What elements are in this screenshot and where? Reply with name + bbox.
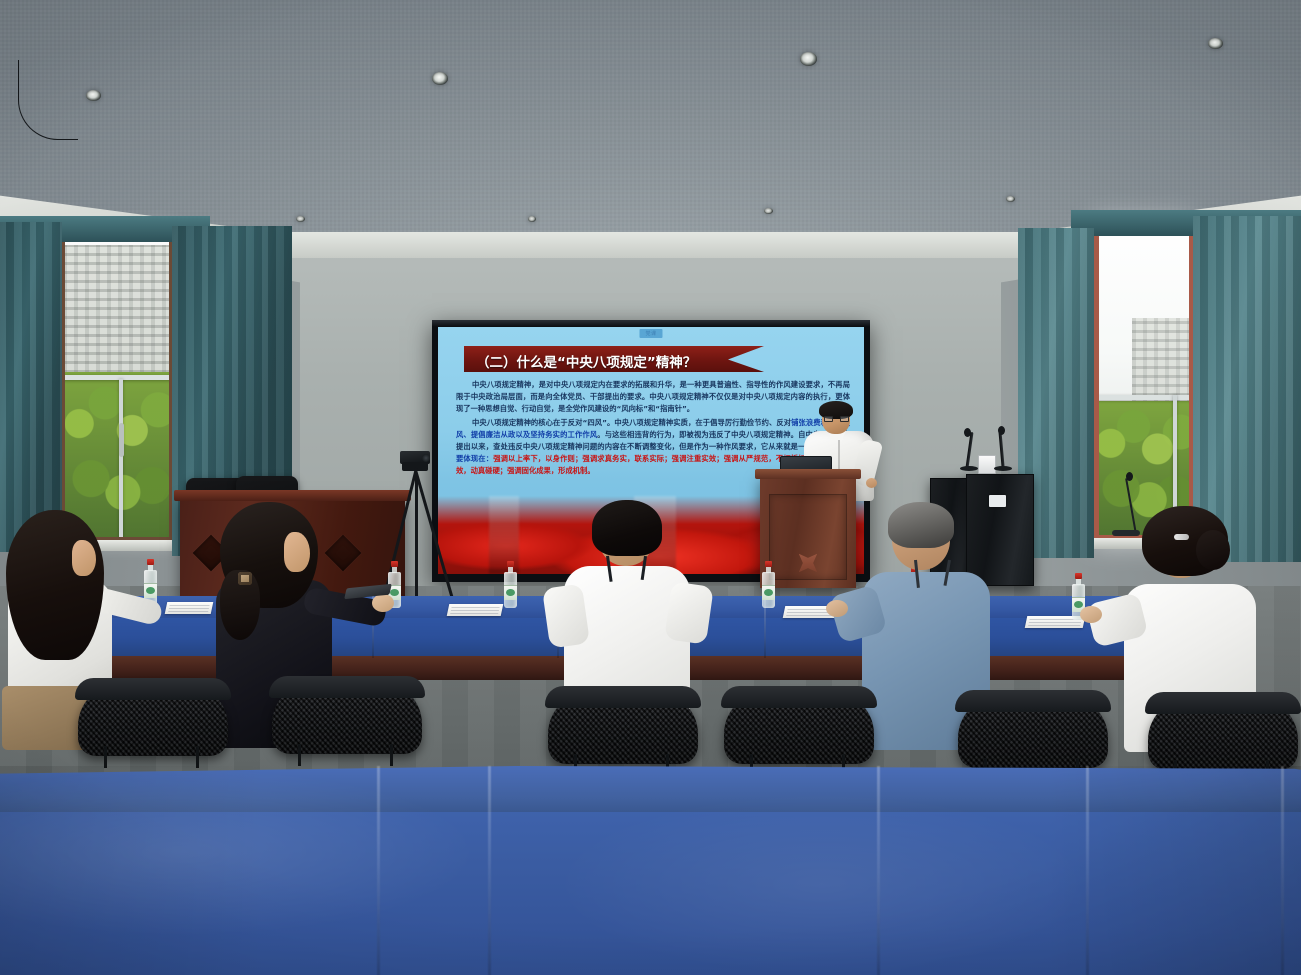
slide-title: （二）什么是“中央八项规定”精神？ [476, 351, 766, 371]
apartment-buildings [63, 245, 172, 391]
attendee-face [284, 532, 310, 572]
microphone-base-icon [994, 466, 1012, 471]
attendee-hand [826, 600, 848, 617]
sill-microphone-capsule-icon [1126, 472, 1133, 481]
mesh-office-chair[interactable] [724, 684, 874, 776]
bottle-cap [391, 561, 398, 567]
bottle-cap [147, 559, 154, 565]
mic-control-panel[interactable] [978, 455, 996, 474]
presenter-hand [866, 478, 877, 488]
mesh-office-chair[interactable] [78, 676, 228, 768]
window-mullion [58, 375, 176, 380]
attendee-hair-bun [1196, 530, 1230, 570]
microphone-capsule-icon [998, 426, 1005, 435]
microphone-capsule-icon [964, 428, 971, 437]
document-paper[interactable] [447, 604, 504, 616]
podium-top-surface [755, 469, 861, 479]
chair-top-rim [545, 686, 701, 708]
chair-top-rim [269, 676, 425, 698]
slide-paragraph-1: 中央八项规定精神，是对中央八项规定内在要求的拓展和升华，是一种更具普遍性、指导性… [456, 379, 850, 416]
window-mullion [1092, 395, 1196, 400]
downlight-icon [528, 216, 536, 222]
water-bottle[interactable] [762, 562, 775, 608]
camera-lens-icon [422, 454, 430, 462]
downlight-icon [800, 52, 817, 66]
window-handle-icon[interactable] [119, 423, 124, 457]
right-window [1092, 222, 1196, 542]
mesh-office-chair[interactable] [548, 684, 698, 776]
hair-clip-icon [238, 572, 252, 585]
downlight-icon [764, 208, 773, 214]
screen-bezel [432, 320, 870, 327]
attendee-hair [6, 510, 104, 660]
attendee-face [72, 540, 96, 576]
attendee-arm [542, 584, 590, 649]
attendee-hair [888, 502, 954, 548]
left-window [58, 226, 176, 544]
attendee-arm [664, 581, 714, 644]
microphone-base-icon [960, 466, 978, 471]
downlight-icon [296, 216, 305, 222]
tripod-leg [415, 474, 418, 602]
bottle-cap [507, 561, 514, 567]
downlight-icon [1208, 38, 1223, 49]
chair-top-rim [955, 690, 1111, 712]
downlight-icon [1006, 196, 1015, 202]
attendee-hand [1080, 606, 1102, 623]
chair-top-rim [1145, 692, 1301, 714]
downlight-icon [432, 72, 448, 85]
ceiling [0, 0, 1301, 232]
conference-room-photo: 党课 （二）什么是“中央八项规定”精神？ 中央八项规定精神，是对中央八项规定内在… [0, 0, 1301, 975]
chair-top-rim [75, 678, 231, 700]
foreground-conference-table [0, 766, 1301, 975]
mesh-office-chair[interactable] [272, 674, 422, 766]
chair-top-rim [721, 686, 877, 708]
bottle-cap [765, 561, 772, 567]
water-bottle[interactable] [504, 562, 517, 608]
downlight-icon [86, 90, 101, 101]
eyeglasses-icon [824, 416, 849, 422]
hair-clip-icon [1174, 534, 1189, 540]
slide-watermark: 党课 [639, 329, 662, 338]
attendee-hand [372, 594, 394, 612]
attendee-hair [592, 500, 662, 556]
bottle-cap [1075, 573, 1082, 579]
ceiling-texture [0, 0, 1301, 232]
